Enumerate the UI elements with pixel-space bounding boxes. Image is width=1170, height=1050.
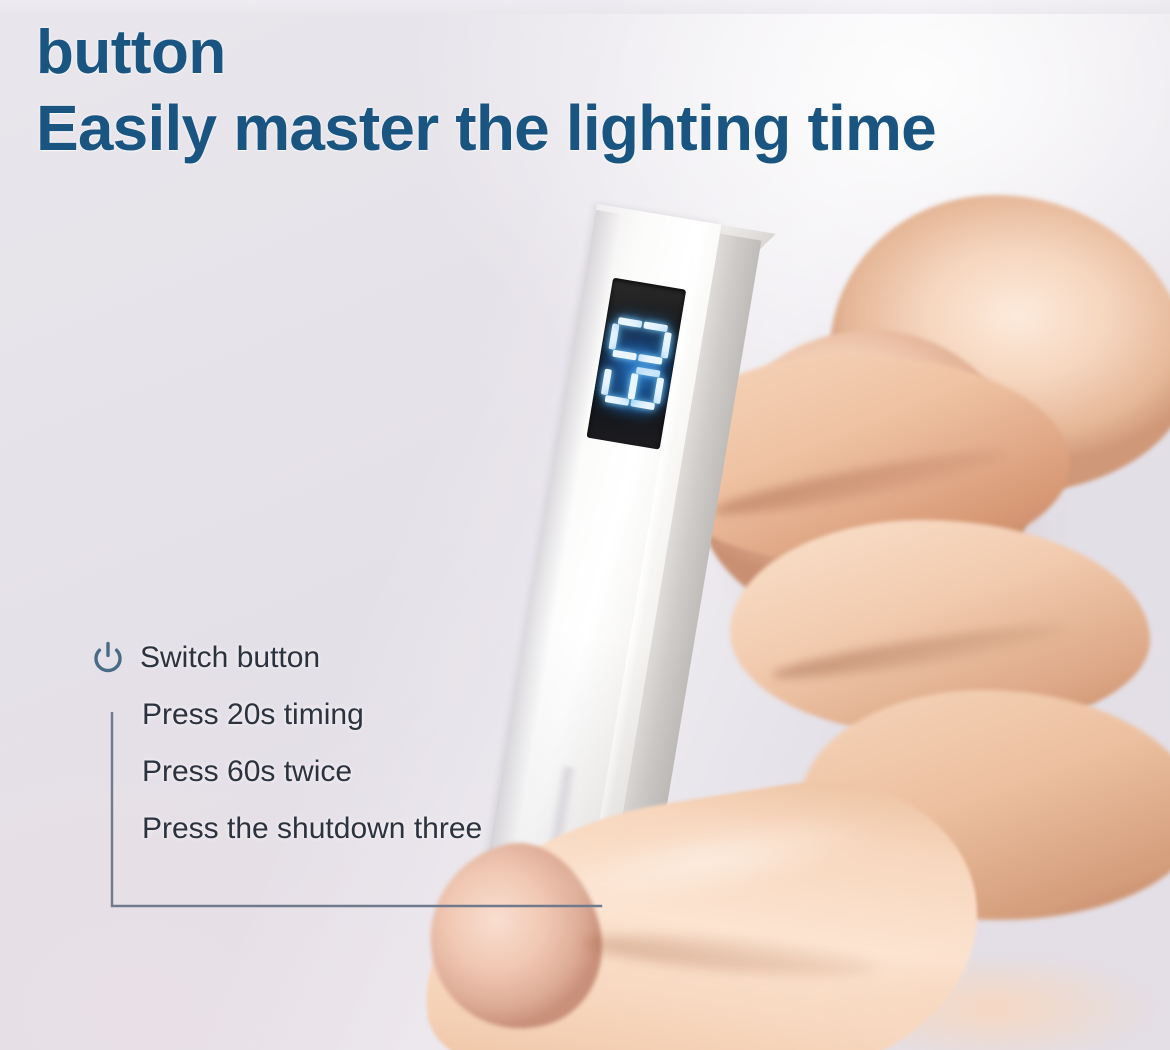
feature-row-3: Press the shutdown three	[142, 812, 482, 846]
feature-row-1: Press 20s timing	[142, 698, 482, 732]
segment-g	[627, 373, 638, 400]
feature-list: Switch button Press 20s timing Press 60s…	[90, 636, 482, 846]
segment-e	[638, 354, 663, 365]
feature-row-2: Press 60s twice	[142, 755, 482, 789]
headline-line-2: Easily master the lighting time	[36, 96, 1146, 160]
segment-c	[636, 367, 661, 378]
thumb-device-occlusion	[830, 960, 1170, 1050]
feature-title: Switch button	[140, 641, 320, 675]
segment-f	[612, 350, 637, 361]
display-digit-ones	[607, 316, 673, 365]
power-icon	[90, 640, 126, 676]
headline: button Easily master the lighting time	[36, 22, 1146, 160]
banner-stage: button Easily master the lighting time S…	[0, 0, 1170, 1050]
feature-list-header: Switch button	[90, 636, 482, 680]
headline-line-1: button	[36, 22, 1146, 84]
